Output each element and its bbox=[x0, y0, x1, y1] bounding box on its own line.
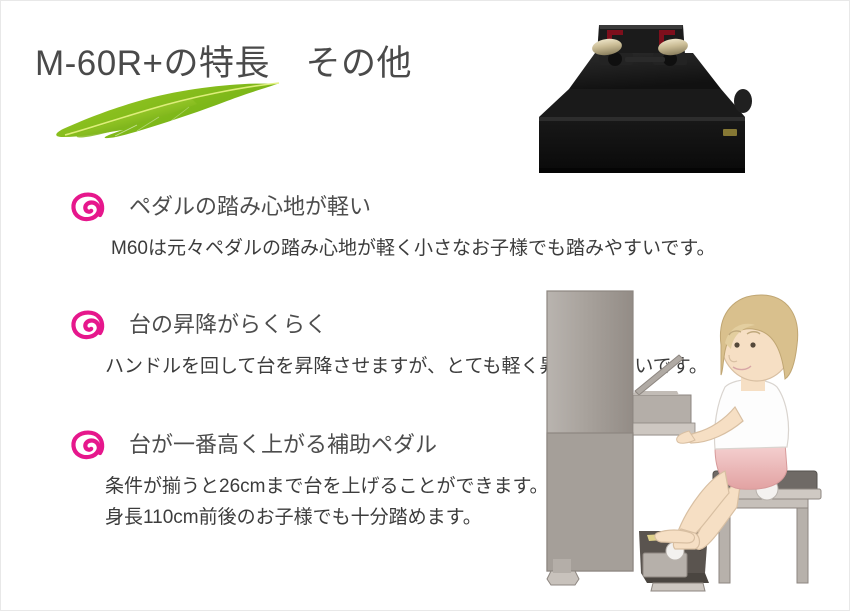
feature-title: 台が一番高く上がる補助ペダル bbox=[129, 430, 437, 460]
feature-section-pedal-lightness: ペダルの踏み心地が軽い M60は元々ペダルの踏み心地が軽く小さなお子様でも踏みや… bbox=[69, 187, 716, 264]
pink-spiral-icon bbox=[69, 308, 109, 342]
green-feather-icon bbox=[41, 81, 281, 139]
pedal-assist-device-photo bbox=[507, 13, 807, 185]
child-at-piano-illustration bbox=[529, 283, 847, 610]
feature-heading-row: 台が一番高く上がる補助ペダル bbox=[69, 425, 549, 465]
feature-heading-row: ペダルの踏み心地が軽い bbox=[69, 187, 716, 227]
feature-title: 台の昇降がらくらく bbox=[129, 310, 327, 340]
pink-spiral-icon bbox=[69, 190, 109, 224]
title-block: M-60R+の特長 その他 bbox=[27, 39, 457, 149]
pink-spiral-icon bbox=[69, 428, 109, 462]
feature-body: M60は元々ペダルの踏み心地が軽く小さなお子様でも踏みやすいです。 bbox=[111, 233, 716, 264]
feature-section-max-height-assist-pedal: 台が一番高く上がる補助ペダル 条件が揃うと26cmまで台を上げることができます。… bbox=[69, 425, 549, 533]
slide-canvas: M-60R+の特長 その他 bbox=[0, 0, 850, 611]
feature-body: 条件が揃うと26cmまで台を上げることができます。 身長110cm前後のお子様で… bbox=[105, 471, 549, 533]
feature-body-line: M60は元々ペダルの踏み心地が軽く小さなお子様でも踏みやすいです。 bbox=[111, 233, 716, 264]
feature-body-line: 条件が揃うと26cmまで台を上げることができます。 bbox=[105, 471, 549, 502]
feature-title: ペダルの踏み心地が軽い bbox=[129, 192, 371, 222]
page-title: M-60R+の特長 その他 bbox=[35, 39, 412, 89]
feature-body-line: 身長110cm前後のお子様でも十分踏めます。 bbox=[105, 502, 549, 533]
